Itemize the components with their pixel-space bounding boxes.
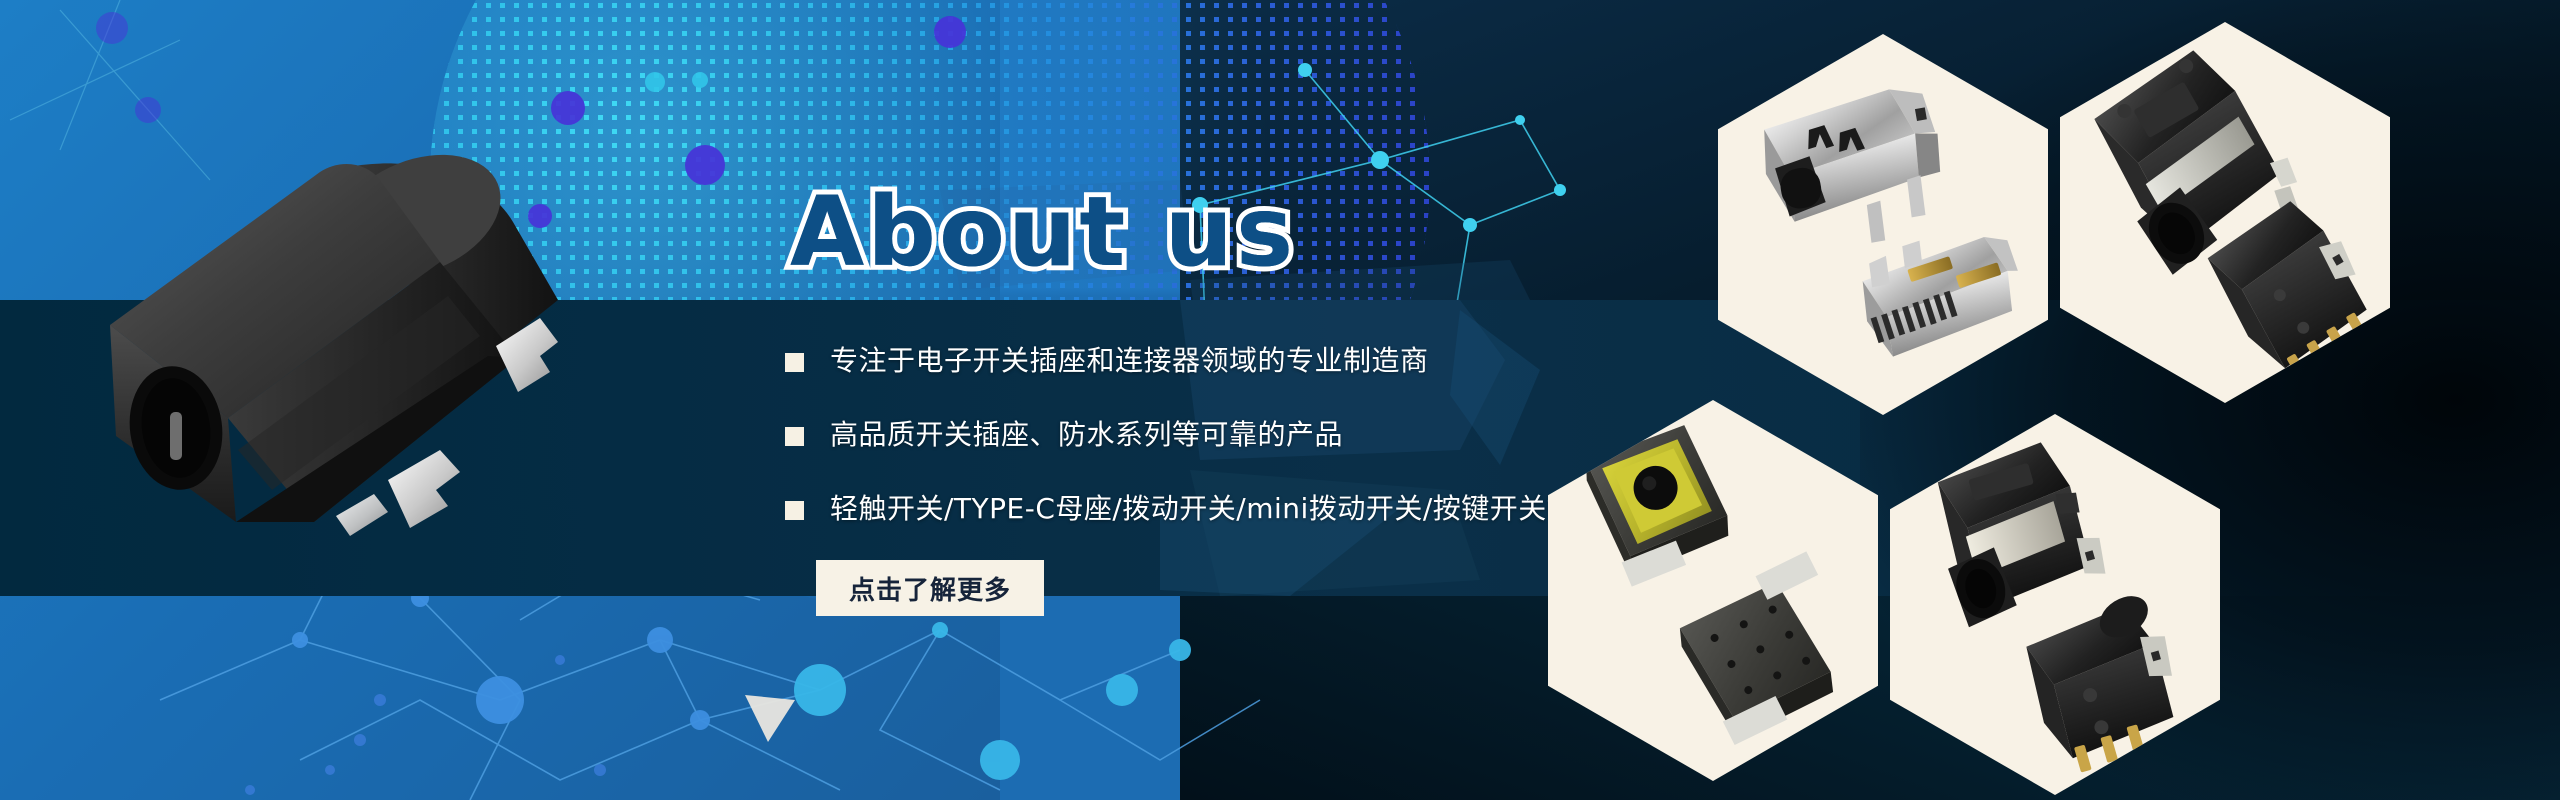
about-us-banner: About us About us 专注于电子开关插座和连接器领域的专业制造商 …: [0, 0, 2560, 800]
square-bullet-icon: [785, 427, 804, 446]
hex-type-c[interactable]: [1718, 34, 2048, 415]
hex-dc-jack[interactable]: [2060, 22, 2390, 403]
list-item: 专注于电子开关插座和连接器领域的专业制造商: [785, 338, 1575, 384]
learn-more-button[interactable]: 点击了解更多: [816, 560, 1044, 616]
product-hexagon-grid: [1540, 0, 2560, 800]
square-bullet-icon: [785, 501, 804, 520]
learn-more-button-label: 点击了解更多: [849, 570, 1011, 607]
list-item-label: 专注于电子开关插座和连接器领域的专业制造商: [830, 344, 1429, 378]
white-triangle-shape: [745, 695, 795, 742]
hero-product-dc-power-jack: [88, 150, 608, 570]
list-item-label: 高品质开关插座、防水系列等可靠的产品: [830, 418, 1343, 452]
hex-audio-jack[interactable]: [1890, 414, 2220, 795]
list-item: 轻触开关/TYPE-C母座/拨动开关/mini拨动开关/按键开关等: [785, 486, 1575, 532]
list-item: 高品质开关插座、防水系列等可靠的产品: [785, 412, 1575, 458]
feature-list: 专注于电子开关插座和连接器领域的专业制造商 高品质开关插座、防水系列等可靠的产品…: [785, 338, 1575, 560]
list-item-label: 轻触开关/TYPE-C母座/拨动开关/mini拨动开关/按键开关等: [830, 492, 1575, 526]
square-bullet-icon: [785, 353, 804, 372]
hex-tact-switch[interactable]: [1548, 400, 1878, 781]
page-title: About us: [790, 176, 1296, 288]
